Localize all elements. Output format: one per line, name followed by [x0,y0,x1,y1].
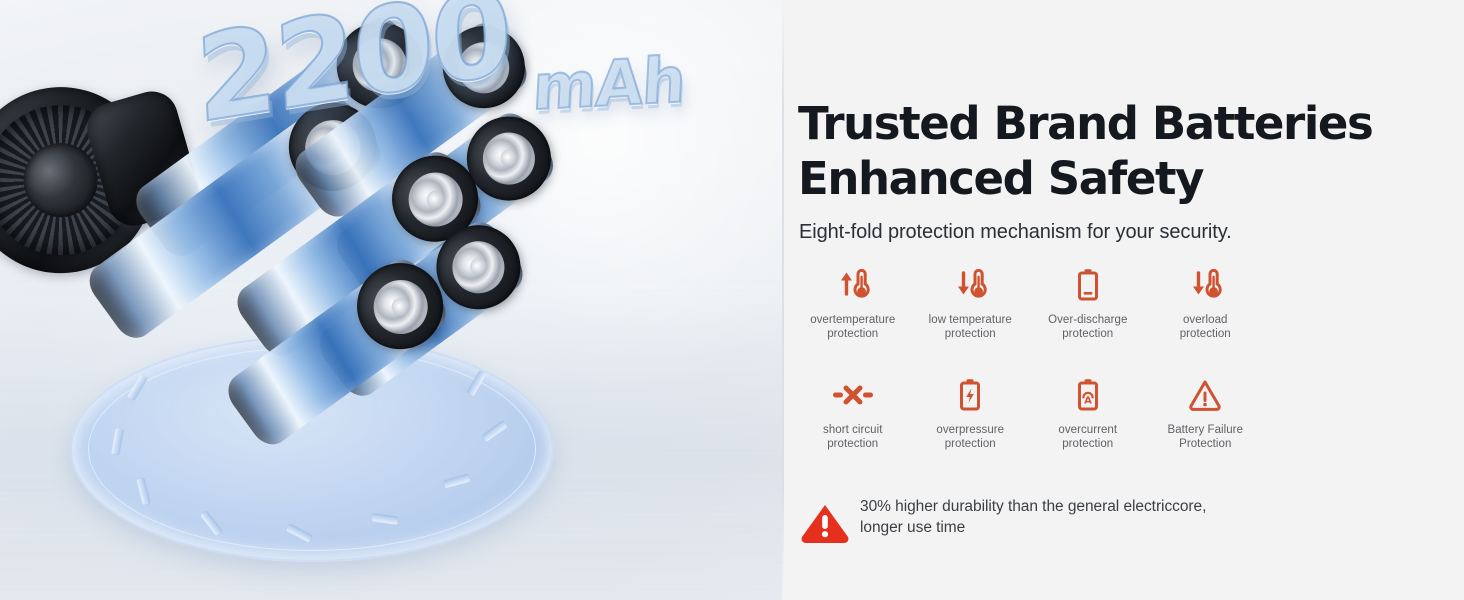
durability-callout: 30% higher durability than the general e… [798,496,1338,549]
feature-label: Over-discharge protection [1048,313,1127,341]
feature-label: Battery Failure Protection [1167,423,1243,451]
feature-label: overtemperature protection [810,313,895,341]
thermometer-up-icon [830,262,876,308]
feature-battery-failure-protection: Battery Failure Protection [1147,372,1265,451]
protection-feature-row-1: overtemperature protection [794,262,1264,341]
svg-text:A: A [1084,396,1092,407]
product-photo-panel: 2200 mAh [0,0,782,600]
thermometer-down-icon [947,262,993,308]
thermometer-down-icon [1182,262,1228,308]
battery-low-icon [1065,262,1111,308]
feature-label: overcurrent protection [1058,423,1117,451]
page-title: Trusted Brand BatteriesEnhanced Safety [798,96,1448,206]
feature-overpressure-protection: overpressure protection [912,372,1030,451]
feature-label: overload protection [1180,313,1231,341]
short-circuit-icon [830,372,876,418]
feature-overcurrent-protection: A overcurrent protection [1029,372,1147,451]
callout-text: 30% higher durability than the general e… [860,496,1206,538]
feature-short-circuit-protection: short circuit protection [794,372,912,451]
feature-label: short circuit protection [823,423,882,451]
battery-cell-bundle [118,148,588,548]
battery-bolt-icon [947,372,993,418]
protection-feature-row-2: short circuit protection overpressure pr… [794,372,1264,451]
product-feature-banner: 2200 mAh Trusted Brand BatteriesEnhanced… [0,0,1464,600]
feature-over-discharge-protection: Over-discharge protection [1029,262,1147,341]
feature-label: low temperature protection [929,313,1012,341]
headline-line-1: Trusted Brand Batteries [798,97,1372,150]
content-panel: Trusted Brand BatteriesEnhanced Safety E… [784,0,1464,600]
feature-label: overpressure protection [936,423,1004,451]
capacity-unit: mAh [531,43,687,125]
headline-line-2: Enhanced Safety [798,151,1448,206]
warning-triangle-solid-icon [798,496,852,549]
capacity-number: 2200 [193,0,513,150]
battery-ampere-icon: A [1065,372,1111,418]
feature-overtemperature-protection: overtemperature protection [794,262,912,341]
subtitle: Eight-fold protection mechanism for your… [799,219,1439,245]
warning-triangle-outline-icon [1182,372,1228,418]
feature-overload-protection: overload protection [1147,262,1265,341]
feature-low-temperature-protection: low temperature protection [912,262,1030,341]
